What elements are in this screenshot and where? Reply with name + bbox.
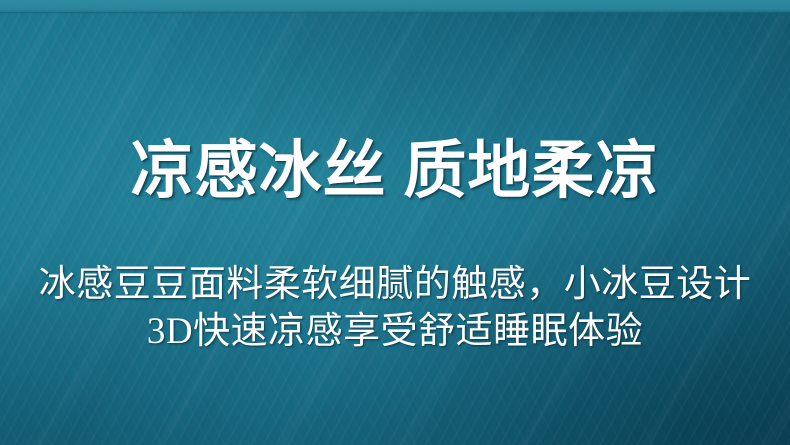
product-promo-banner: 凉感冰丝 质地柔凉 冰感豆豆面料柔软细腻的触感，小冰豆设计 3D快速凉感享受舒适… bbox=[0, 0, 790, 445]
subtitle-line-1: 冰感豆豆面料柔软细腻的触感，小冰豆设计 bbox=[0, 266, 790, 303]
subtitle-line-2: 3D快速凉感享受舒适睡眠体验 bbox=[0, 313, 790, 350]
headline-title: 凉感冰丝 质地柔凉 bbox=[0, 140, 790, 203]
banner-content: 凉感冰丝 质地柔凉 冰感豆豆面料柔软细腻的触感，小冰豆设计 3D快速凉感享受舒适… bbox=[0, 0, 790, 445]
